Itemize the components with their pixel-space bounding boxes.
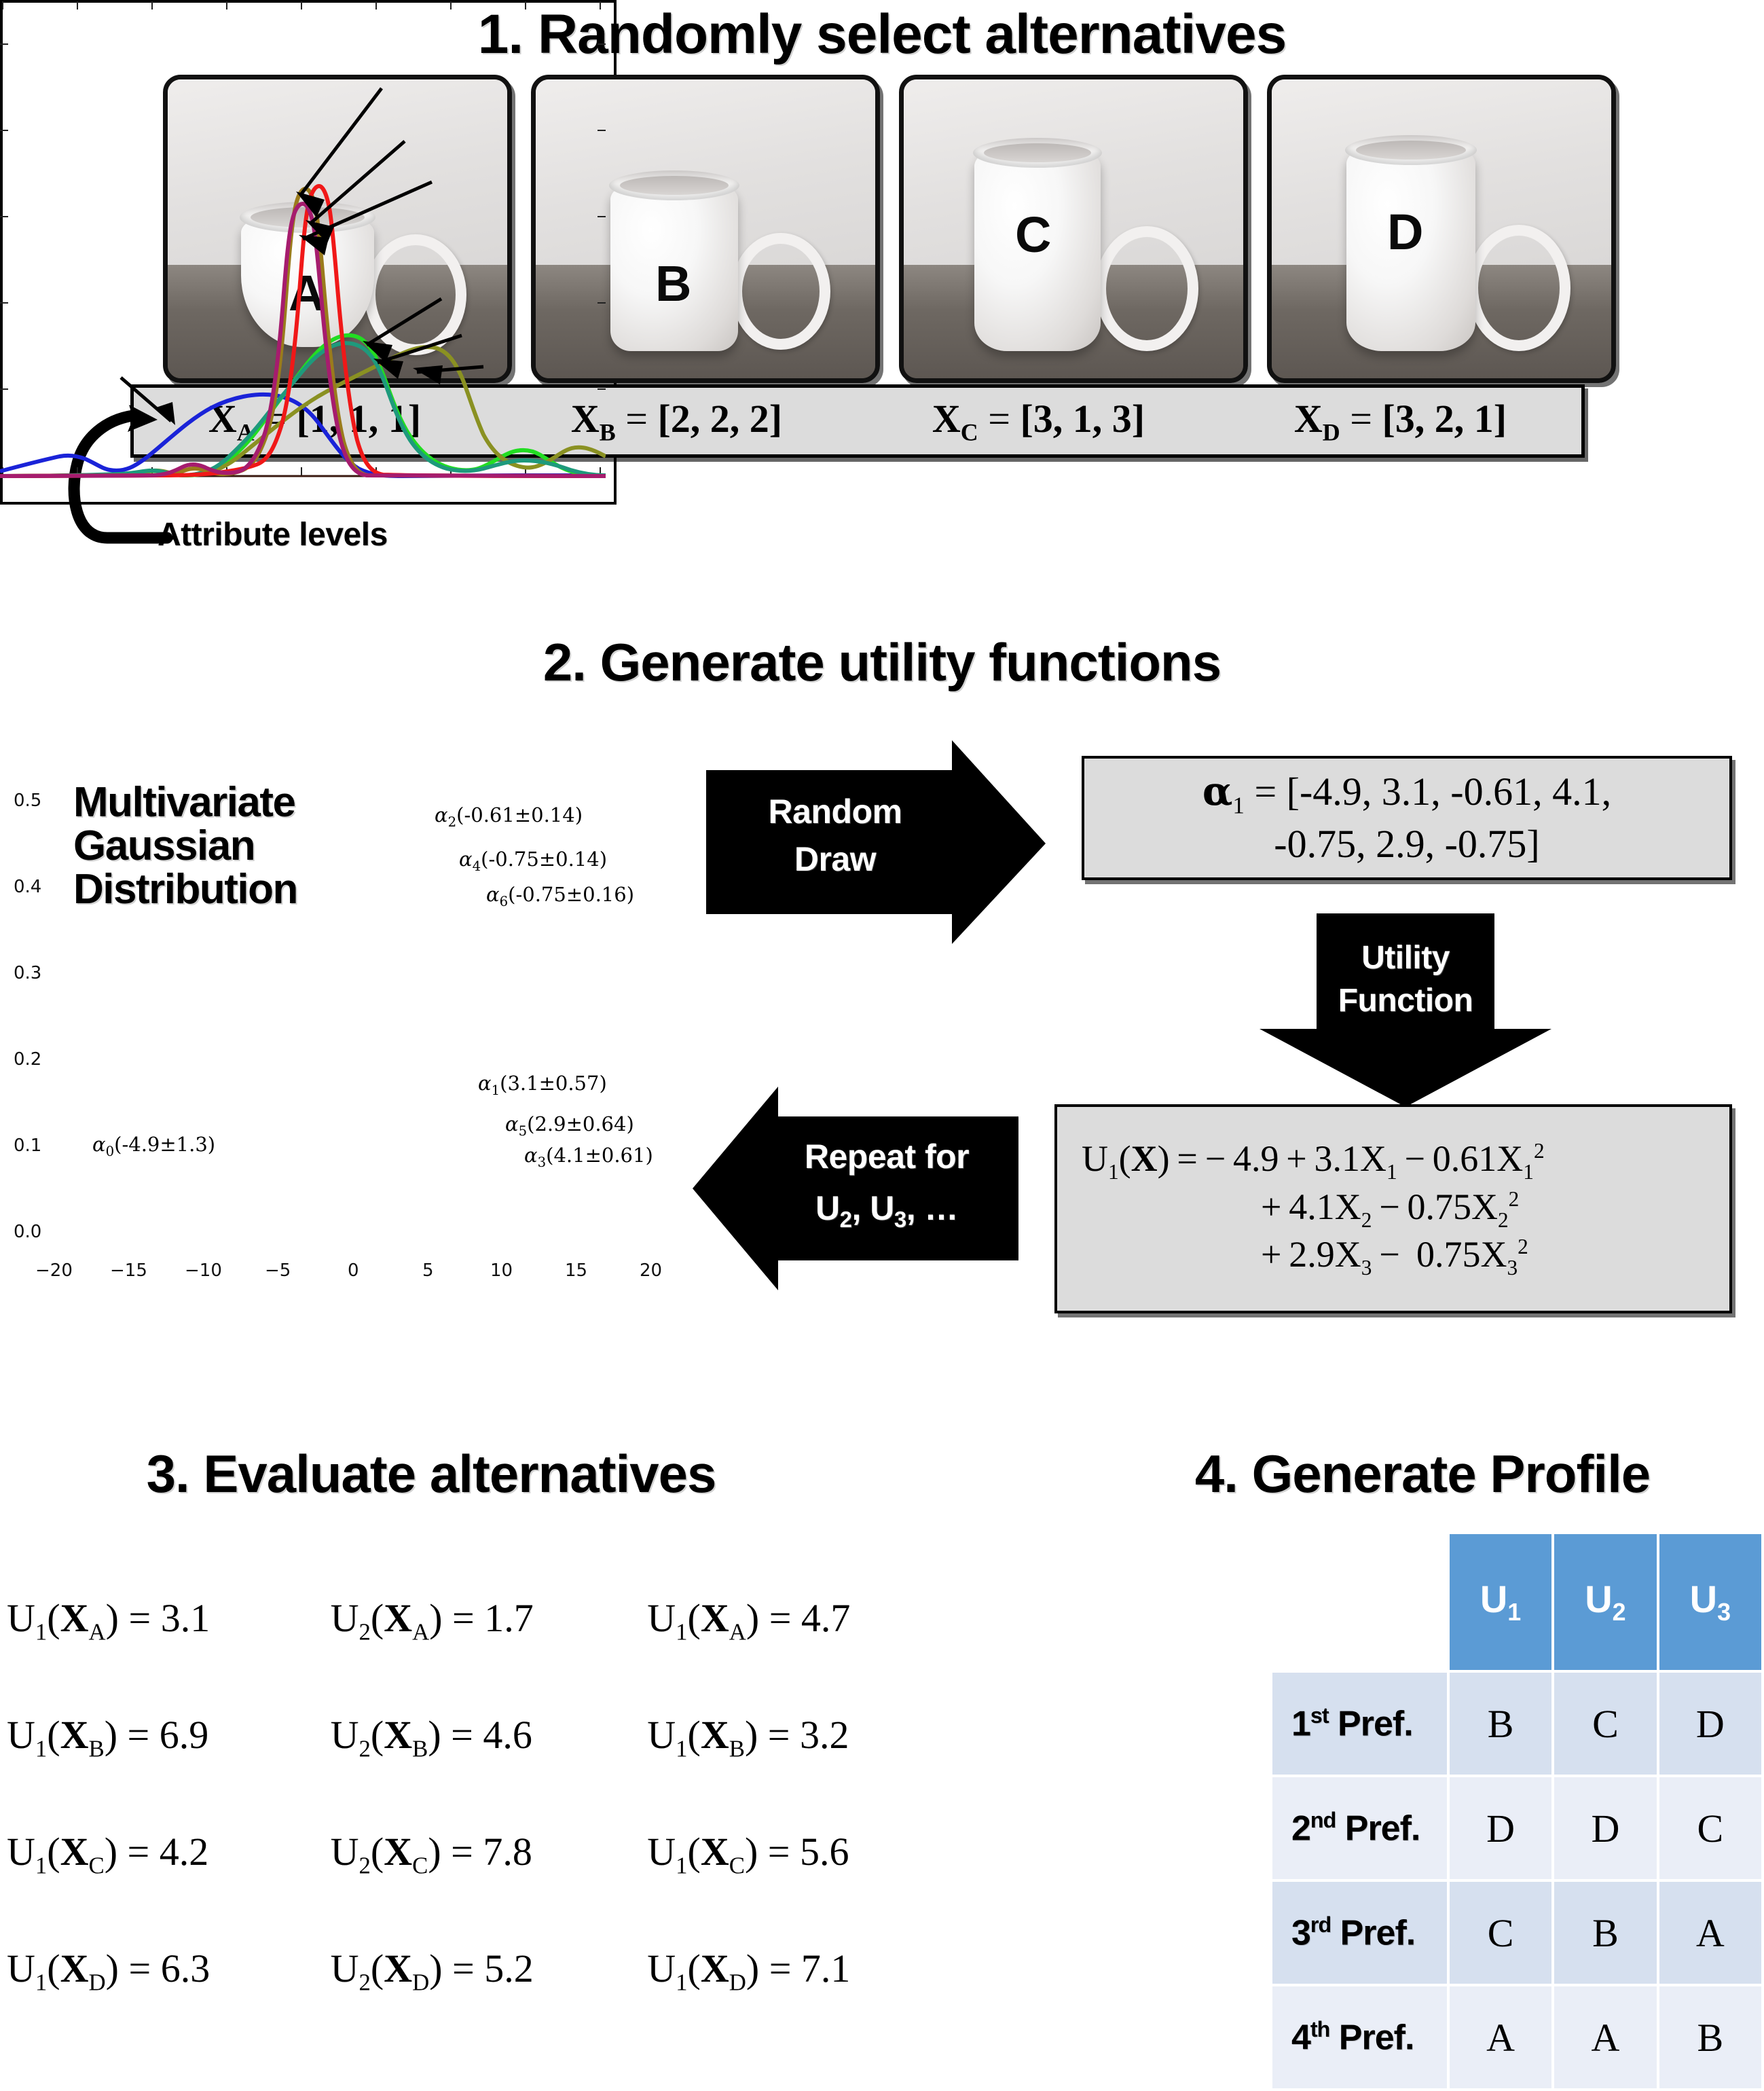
x-tick-20: 20 [640, 1260, 662, 1281]
table-cell: C [1450, 1882, 1551, 1984]
alternative-card-d[interactable]: D [1267, 75, 1616, 383]
attribute-entry-c: XC = [3, 1, 3] [858, 396, 1219, 447]
repeat-label-line1: Repeat for [765, 1138, 1009, 1176]
y-tick-0-4: 0.4 [14, 877, 41, 897]
mug-handle [1095, 226, 1198, 351]
evaluation-row: U1(XA) = 3.1 U2(XA) = 1.7 U1(XA) = 4.7 [0, 1562, 951, 1679]
annotation-alpha1: α1(3.1±0.57) [478, 1072, 607, 1098]
evaluation-cell: U1(XC) = 4.2 [0, 1829, 331, 1880]
utility-function-line1: U1(X) = − 4.9 + 3.1X1 − 0.61X12 [1057, 1137, 1729, 1184]
row-header-1st-pref: 1st Pref. [1272, 1673, 1447, 1775]
column-header-u1: U1 [1450, 1534, 1551, 1670]
evaluation-cell: U1(XD) = 6.3 [0, 1946, 331, 1997]
table-cell: B [1554, 1882, 1656, 1984]
alpha-vector-line1: α1 = [-4.9, 3.1, -0.61, 4.1, [1202, 767, 1611, 820]
table-row: 3rd Pref. C B A [1272, 1882, 1761, 1984]
column-header-u3: U3 [1659, 1534, 1761, 1670]
annotation-alpha6: α6(-0.75±0.16) [486, 883, 634, 909]
y-tick-0-1: 0.1 [14, 1135, 41, 1156]
chart-plot-area [0, 0, 606, 494]
x-tick-5: 5 [422, 1260, 434, 1281]
mug-interior [620, 176, 729, 195]
utility-function-label-line1: Utility [1260, 941, 1551, 977]
table-cell: A [1659, 1882, 1761, 1984]
x-tick-15: 15 [565, 1260, 587, 1281]
alternative-card-c[interactable]: C [899, 75, 1248, 383]
x-tick-neg10: −10 [185, 1260, 222, 1281]
mug-handle [731, 233, 830, 350]
alternative-letter: D [1387, 203, 1423, 261]
alpha-vector-line2: -0.75, 2.9, -0.75] [1274, 820, 1539, 869]
table-row: 4th Pref. A A B [1272, 1986, 1761, 2088]
annotation-alpha0: α0(-4.9±1.3) [92, 1133, 215, 1159]
table-cell: D [1554, 1777, 1656, 1879]
utility-function-label-line2: Function [1260, 983, 1551, 1019]
table-cell: C [1554, 1673, 1656, 1775]
evaluation-cell: U1(XA) = 3.1 [0, 1595, 331, 1646]
annotation-alpha3: α3(4.1±0.61) [524, 1144, 653, 1170]
table-cell: C [1659, 1777, 1761, 1879]
evaluation-cell: U1(XA) = 4.7 [647, 1595, 951, 1646]
step4-title: 4. Generate Profile [1100, 1443, 1745, 1505]
utility-function-line2: + 4.1X2 − 0.75X22 [1057, 1185, 1729, 1233]
preference-profile-table: U1 U2 U3 1st Pref. B C D 2nd Pref. D D C… [1270, 1531, 1764, 2091]
evaluation-cell: U2(XD) = 5.2 [331, 1946, 648, 1997]
x-tick-neg20: −20 [35, 1260, 73, 1281]
alpha-vector-box: α1 = [-4.9, 3.1, -0.61, 4.1, -0.75, 2.9,… [1082, 756, 1732, 880]
evaluation-cell: U1(XB) = 3.2 [647, 1712, 951, 1763]
evaluation-list: U1(XA) = 3.1 U2(XA) = 1.7 U1(XA) = 4.7 U… [0, 1562, 951, 2029]
evaluation-cell: U2(XB) = 4.6 [331, 1712, 648, 1763]
y-tick-0-2: 0.2 [14, 1049, 41, 1070]
mug-handle [1467, 225, 1570, 351]
evaluation-row: U1(XB) = 6.9 U2(XB) = 4.6 U1(XB) = 3.2 [0, 1679, 951, 1796]
utility-function-box: U1(X) = − 4.9 + 3.1X1 − 0.61X12 + 4.1X2 … [1054, 1104, 1732, 1313]
table-cell: D [1450, 1777, 1551, 1879]
step3-title: 3. Evaluate alternatives [41, 1443, 822, 1505]
table-cell: A [1554, 1986, 1656, 2088]
random-draw-label-line2: Draw [706, 841, 964, 878]
annotation-alpha2: α2(-0.61±0.14) [435, 803, 583, 830]
table-header-row: U1 U2 U3 [1272, 1534, 1761, 1670]
table-cell: B [1450, 1673, 1551, 1775]
x-tick-0: 0 [348, 1260, 359, 1281]
column-header-u2: U2 [1554, 1534, 1656, 1670]
evaluation-cell: U2(XA) = 1.7 [331, 1595, 648, 1646]
random-draw-label-line1: Random [706, 793, 964, 831]
y-tick-0-3: 0.3 [14, 963, 41, 983]
evaluation-cell: U1(XC) = 5.6 [647, 1829, 951, 1880]
table-cell: B [1659, 1986, 1761, 2088]
row-header-2nd-pref: 2nd Pref. [1272, 1777, 1447, 1879]
annotation-alpha5: α5(2.9±0.64) [505, 1112, 634, 1139]
gaussian-distribution-chart [0, 0, 617, 505]
table-cell: D [1659, 1673, 1761, 1775]
repeat-arrow [693, 1087, 1018, 1290]
evaluation-row: U1(XC) = 4.2 U2(XC) = 7.8 U1(XC) = 5.6 [0, 1796, 951, 1912]
table-row: 1st Pref. B C D [1272, 1673, 1761, 1775]
evaluation-cell: U2(XC) = 7.8 [331, 1829, 648, 1880]
utility-function-line3: + 2.9X3 − 0.75X32 [1057, 1233, 1729, 1280]
mug-interior [1356, 141, 1466, 160]
mug-interior [984, 143, 1091, 162]
repeat-label-line2: U2, U3, … [765, 1190, 1009, 1232]
evaluation-cell: U1(XD) = 7.1 [647, 1946, 951, 1997]
annotation-alpha4: α4(-0.75±0.14) [459, 848, 607, 874]
alternative-letter: B [655, 255, 691, 312]
attribute-entry-d: XD = [3, 2, 1] [1219, 396, 1581, 447]
table-row: 2nd Pref. D D C [1272, 1777, 1761, 1879]
table-cell: A [1450, 1986, 1551, 2088]
y-tick-0-0: 0.0 [14, 1222, 41, 1242]
y-tick-0-5: 0.5 [14, 790, 41, 811]
x-tick-neg5: −5 [265, 1260, 291, 1281]
evaluation-cell: U1(XB) = 6.9 [0, 1712, 331, 1763]
alternative-letter: C [1015, 206, 1051, 263]
chart-title-label: Multivariate Gaussian Distribution [73, 781, 359, 911]
step2-title: 2. Generate utility functions [0, 632, 1764, 693]
x-tick-10: 10 [490, 1260, 513, 1281]
row-header-3rd-pref: 3rd Pref. [1272, 1882, 1447, 1984]
row-header-4th-pref: 4th Pref. [1272, 1986, 1447, 2088]
evaluation-row: U1(XD) = 6.3 U2(XD) = 5.2 U1(XD) = 7.1 [0, 1912, 951, 2029]
attribute-levels-label: Attribute levels [158, 516, 388, 553]
table-corner-cell [1272, 1534, 1447, 1670]
x-tick-neg15: −15 [110, 1260, 147, 1281]
